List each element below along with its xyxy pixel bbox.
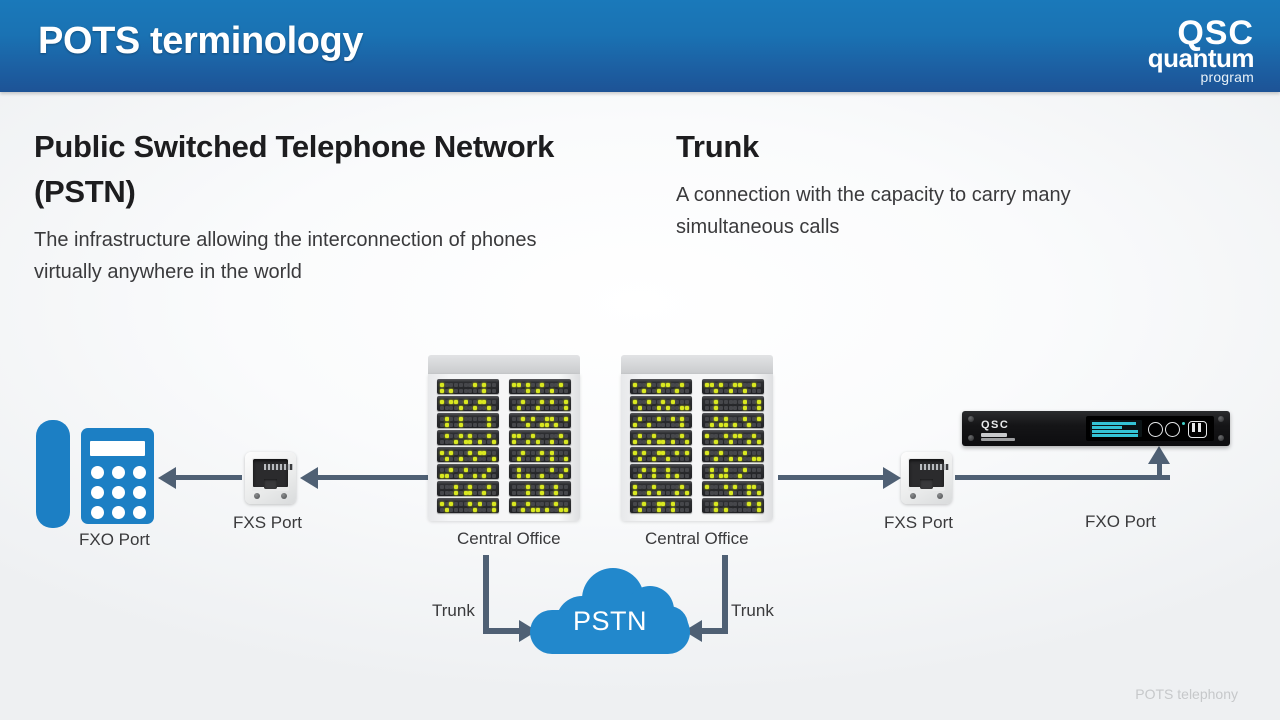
rack-led xyxy=(449,451,453,455)
rack-led xyxy=(738,491,742,495)
rack-led xyxy=(468,502,472,506)
rack-server-unit xyxy=(630,379,692,394)
rack-led xyxy=(714,423,718,427)
rack-led xyxy=(642,451,646,455)
rack-led xyxy=(473,451,477,455)
rack-led xyxy=(647,485,651,489)
rack-led xyxy=(454,406,458,410)
rack-led xyxy=(482,451,486,455)
rack-server-unit xyxy=(630,481,692,496)
rack-led xyxy=(554,457,558,461)
rack-led xyxy=(473,457,477,461)
rack-led xyxy=(652,491,656,495)
rack-column xyxy=(437,379,499,517)
rack-ear-screw xyxy=(1218,435,1224,441)
rack-led xyxy=(445,423,449,427)
rack-led xyxy=(482,440,486,444)
rack-led xyxy=(757,423,761,427)
rack-led xyxy=(675,485,679,489)
rack-led xyxy=(517,440,521,444)
rack-led xyxy=(554,474,558,478)
rack-led xyxy=(685,485,689,489)
rack-led xyxy=(743,400,747,404)
rack-led xyxy=(464,474,468,478)
rack-led xyxy=(545,440,549,444)
rack-led xyxy=(564,423,568,427)
rack-led xyxy=(657,383,661,387)
rack-led xyxy=(440,389,444,393)
rack-led xyxy=(729,451,733,455)
rack-led xyxy=(675,434,679,438)
rack-column xyxy=(509,379,571,517)
rack-led xyxy=(652,400,656,404)
rack-led xyxy=(757,417,761,421)
rack-led xyxy=(661,406,665,410)
rack-led xyxy=(757,468,761,472)
rack-led xyxy=(468,423,472,427)
rack-led xyxy=(445,389,449,393)
rack-led xyxy=(657,417,661,421)
rack-led xyxy=(559,474,563,478)
rack-led xyxy=(478,389,482,393)
rack-led xyxy=(671,383,675,387)
rack-led xyxy=(724,491,728,495)
rack-led xyxy=(638,457,642,461)
rack-led xyxy=(445,440,449,444)
rack-led xyxy=(647,417,651,421)
rack-led xyxy=(564,400,568,404)
rack-led xyxy=(540,383,544,387)
rack-led xyxy=(705,485,709,489)
device-lcd-screen xyxy=(1090,420,1142,437)
rack-led xyxy=(473,417,477,421)
device-knob[interactable] xyxy=(1148,422,1163,437)
rack-led xyxy=(545,474,549,478)
rack-led xyxy=(743,491,747,495)
rack-led xyxy=(459,417,463,421)
rack-led xyxy=(657,468,661,472)
rack-led xyxy=(638,406,642,410)
rack-led xyxy=(752,457,756,461)
rack-led xyxy=(554,502,558,506)
device-status-led xyxy=(1182,422,1185,425)
rack-led xyxy=(652,502,656,506)
arrow-co-to-fxs-right-head xyxy=(883,467,901,489)
desk-phone-icon xyxy=(36,420,154,528)
rack-led xyxy=(517,451,521,455)
slide-watermark: POTS telephony xyxy=(1135,686,1238,702)
rack-led xyxy=(680,417,684,421)
rj11-tab xyxy=(920,479,933,489)
rack-led xyxy=(564,508,568,512)
rack-led xyxy=(752,400,756,404)
rack-led xyxy=(671,451,675,455)
rack-led xyxy=(512,485,516,489)
rack-led xyxy=(473,389,477,393)
rack-led xyxy=(729,400,733,404)
rack-led xyxy=(459,406,463,410)
rack-led xyxy=(531,457,535,461)
rack-led xyxy=(440,502,444,506)
rack-led xyxy=(554,423,558,427)
rack-led xyxy=(747,383,751,387)
rack-led xyxy=(747,389,751,393)
rack-led xyxy=(747,508,751,512)
rack-led xyxy=(638,451,642,455)
label-trunk-right: Trunk xyxy=(731,601,774,621)
rack-led xyxy=(492,468,496,472)
rack-led xyxy=(440,474,444,478)
rack-led xyxy=(671,406,675,410)
rack-led xyxy=(440,440,444,444)
rack-led xyxy=(478,400,482,404)
rack-led xyxy=(657,440,661,444)
rack-led xyxy=(564,389,568,393)
rack-led xyxy=(710,383,714,387)
rack-led xyxy=(482,423,486,427)
rack-led xyxy=(661,468,665,472)
rack-led xyxy=(714,383,718,387)
rack-led xyxy=(464,502,468,506)
rack-led xyxy=(743,485,747,489)
rack-led xyxy=(540,491,544,495)
rack-led xyxy=(454,468,458,472)
rack-led xyxy=(714,468,718,472)
rack-led xyxy=(545,389,549,393)
rack-led xyxy=(517,417,521,421)
rack-led xyxy=(526,468,530,472)
rack-led xyxy=(642,423,646,427)
rack-led xyxy=(482,502,486,506)
rack-led xyxy=(671,417,675,421)
rack-led xyxy=(464,457,468,461)
rack-led xyxy=(661,457,665,461)
rack-led xyxy=(647,474,651,478)
central-office-rack-right xyxy=(621,355,773,521)
rack-led xyxy=(685,417,689,421)
rack-led xyxy=(521,468,525,472)
rack-server-unit xyxy=(630,413,692,428)
rack-led xyxy=(724,485,728,489)
rack-led xyxy=(521,508,525,512)
rack-led xyxy=(633,485,637,489)
rack-led xyxy=(531,423,535,427)
rack-led xyxy=(671,485,675,489)
rack-led xyxy=(545,400,549,404)
rack-led xyxy=(714,474,718,478)
device-logo-bar xyxy=(981,438,1015,441)
rack-led xyxy=(757,434,761,438)
rack-led xyxy=(487,508,491,512)
rj11-pins xyxy=(920,464,949,470)
rack-led xyxy=(531,502,535,506)
rack-led xyxy=(536,502,540,506)
rack-led xyxy=(459,423,463,427)
rack-led xyxy=(661,423,665,427)
rack-led xyxy=(554,389,558,393)
rack-led xyxy=(714,457,718,461)
rack-led xyxy=(675,457,679,461)
rack-led xyxy=(468,457,472,461)
rack-led xyxy=(671,389,675,393)
rack-led xyxy=(526,485,530,489)
rack-led xyxy=(482,434,486,438)
rack-led xyxy=(738,457,742,461)
rack-led xyxy=(666,485,670,489)
rack-led xyxy=(733,434,737,438)
rack-led xyxy=(647,468,651,472)
rack-led xyxy=(633,423,637,427)
rack-led xyxy=(657,457,661,461)
rack-led xyxy=(652,474,656,478)
rack-led xyxy=(710,400,714,404)
rack-led xyxy=(747,440,751,444)
device-knob[interactable] xyxy=(1165,422,1180,437)
rack-led xyxy=(468,451,472,455)
rack-led xyxy=(647,383,651,387)
rack-led xyxy=(747,451,751,455)
rack-led xyxy=(666,406,670,410)
rack-led xyxy=(714,406,718,410)
rack-server-unit xyxy=(509,379,571,394)
rack-led xyxy=(559,434,563,438)
rack-led xyxy=(512,508,516,512)
rack-led xyxy=(492,400,496,404)
rack-led xyxy=(545,406,549,410)
rack-led xyxy=(752,389,756,393)
phone-key xyxy=(91,486,104,499)
rack-led xyxy=(517,434,521,438)
rack-led xyxy=(705,417,709,421)
rack-ear-screw xyxy=(968,416,974,422)
rack-led xyxy=(478,474,482,478)
rack-led xyxy=(482,491,486,495)
rack-led xyxy=(752,485,756,489)
rack-server-unit xyxy=(630,447,692,462)
rack-led xyxy=(671,502,675,506)
rack-led xyxy=(478,434,482,438)
rack-column xyxy=(702,379,764,517)
rack-led xyxy=(714,485,718,489)
rack-led xyxy=(685,383,689,387)
rack-led xyxy=(464,468,468,472)
label-central-office-right: Central Office xyxy=(645,529,749,549)
slide: POTS terminology QSC quantum program Pub… xyxy=(0,0,1280,720)
rack-led xyxy=(752,406,756,410)
rack-led xyxy=(657,434,661,438)
rack-led xyxy=(478,457,482,461)
rack-led xyxy=(710,485,714,489)
rack-led xyxy=(757,474,761,478)
rack-led xyxy=(710,389,714,393)
phone-display xyxy=(90,441,145,456)
rack-led xyxy=(719,474,723,478)
rack-led xyxy=(445,451,449,455)
rack-led xyxy=(738,440,742,444)
rack-led xyxy=(487,434,491,438)
rack-led xyxy=(454,485,458,489)
rack-led xyxy=(757,451,761,455)
rack-led xyxy=(757,485,761,489)
rack-led xyxy=(738,423,742,427)
arrow-fxs-to-device-vertical xyxy=(1157,462,1162,480)
rack-led xyxy=(559,451,563,455)
rack-led xyxy=(512,406,516,410)
rack-led xyxy=(680,491,684,495)
rack-led xyxy=(743,434,747,438)
rack-led xyxy=(459,383,463,387)
rack-led xyxy=(559,400,563,404)
rack-led xyxy=(459,440,463,444)
rack-led xyxy=(714,491,718,495)
rack-led xyxy=(550,502,554,506)
rack-led xyxy=(440,508,444,512)
rack-led xyxy=(747,474,751,478)
rack-led xyxy=(638,440,642,444)
rack-led xyxy=(666,389,670,393)
rack-led xyxy=(724,406,728,410)
rack-led xyxy=(454,457,458,461)
rack-led xyxy=(729,383,733,387)
rack-led xyxy=(564,440,568,444)
rack-led xyxy=(449,434,453,438)
rack-led xyxy=(675,400,679,404)
rack-led xyxy=(729,406,733,410)
rack-led xyxy=(440,491,444,495)
rack-led xyxy=(705,406,709,410)
rack-led xyxy=(724,434,728,438)
rack-led xyxy=(714,440,718,444)
rack-led xyxy=(657,423,661,427)
rack-column xyxy=(630,379,692,517)
rack-led xyxy=(554,451,558,455)
rack-led xyxy=(738,389,742,393)
phone-key xyxy=(91,466,104,479)
rack-led xyxy=(657,400,661,404)
rack-led xyxy=(733,440,737,444)
rack-led xyxy=(738,417,742,421)
rack-led xyxy=(526,383,530,387)
rack-led xyxy=(536,508,540,512)
rack-led xyxy=(675,474,679,478)
rack-led xyxy=(666,508,670,512)
rack-led xyxy=(633,457,637,461)
rack-led xyxy=(559,491,563,495)
rack-led xyxy=(559,457,563,461)
rack-led xyxy=(719,440,723,444)
rack-led xyxy=(512,474,516,478)
label-fxs-port-left: FXS Port xyxy=(233,513,302,533)
rack-led xyxy=(487,491,491,495)
rack-led xyxy=(449,468,453,472)
rack-server-unit xyxy=(630,464,692,479)
rack-led xyxy=(531,474,535,478)
rack-led xyxy=(478,468,482,472)
rack-server-unit xyxy=(509,430,571,445)
rack-server-unit xyxy=(437,481,499,496)
rack-led xyxy=(478,417,482,421)
rack-led xyxy=(661,389,665,393)
rack-led xyxy=(733,485,737,489)
rack-led xyxy=(487,383,491,387)
rack-led xyxy=(517,468,521,472)
rack-led xyxy=(464,451,468,455)
rack-led xyxy=(685,457,689,461)
rack-led xyxy=(710,434,714,438)
rack-server-unit xyxy=(702,481,764,496)
rack-led xyxy=(685,491,689,495)
rack-led xyxy=(633,468,637,472)
rack-led xyxy=(536,491,540,495)
rack-led xyxy=(473,508,477,512)
rack-led xyxy=(685,474,689,478)
rack-server-unit xyxy=(702,379,764,394)
rack-led xyxy=(526,502,530,506)
rack-led xyxy=(638,485,642,489)
rack-led xyxy=(652,383,656,387)
rack-led xyxy=(449,406,453,410)
rack-led xyxy=(657,491,661,495)
rack-led xyxy=(738,451,742,455)
rack-led xyxy=(743,457,747,461)
rack-led xyxy=(743,440,747,444)
rack-led xyxy=(482,474,486,478)
rack-led xyxy=(680,457,684,461)
rack-led xyxy=(705,474,709,478)
rack-led xyxy=(642,474,646,478)
rack-led xyxy=(473,474,477,478)
rack-led xyxy=(492,451,496,455)
rack-led xyxy=(680,389,684,393)
rack-server-unit xyxy=(702,498,764,513)
rack-server-unit xyxy=(437,447,499,462)
rack-led xyxy=(550,383,554,387)
rack-led xyxy=(710,406,714,410)
rack-led xyxy=(454,389,458,393)
rack-led xyxy=(440,406,444,410)
rack-led xyxy=(710,423,714,427)
rack-led xyxy=(512,423,516,427)
rack-led xyxy=(633,406,637,410)
rack-led xyxy=(459,468,463,472)
rack-led xyxy=(680,502,684,506)
rack-led xyxy=(487,406,491,410)
rack-led xyxy=(747,417,751,421)
rack-led xyxy=(512,457,516,461)
rack-led xyxy=(487,457,491,461)
rack-led xyxy=(545,423,549,427)
rack-led xyxy=(647,400,651,404)
rack-led xyxy=(729,389,733,393)
rack-led xyxy=(652,457,656,461)
rack-led xyxy=(719,434,723,438)
rack-led xyxy=(526,406,530,410)
rack-led xyxy=(633,451,637,455)
rack-led xyxy=(680,400,684,404)
fxs-jack-right xyxy=(901,452,952,504)
rack-led xyxy=(521,440,525,444)
rack-led xyxy=(642,457,646,461)
rack-led xyxy=(680,474,684,478)
rack-led xyxy=(733,468,737,472)
rack-led xyxy=(647,491,651,495)
rack-led xyxy=(633,508,637,512)
rack-led xyxy=(661,485,665,489)
rack-led xyxy=(747,491,751,495)
rack-led xyxy=(705,383,709,387)
device-logo-bar xyxy=(981,433,1007,437)
rack-led xyxy=(710,457,714,461)
